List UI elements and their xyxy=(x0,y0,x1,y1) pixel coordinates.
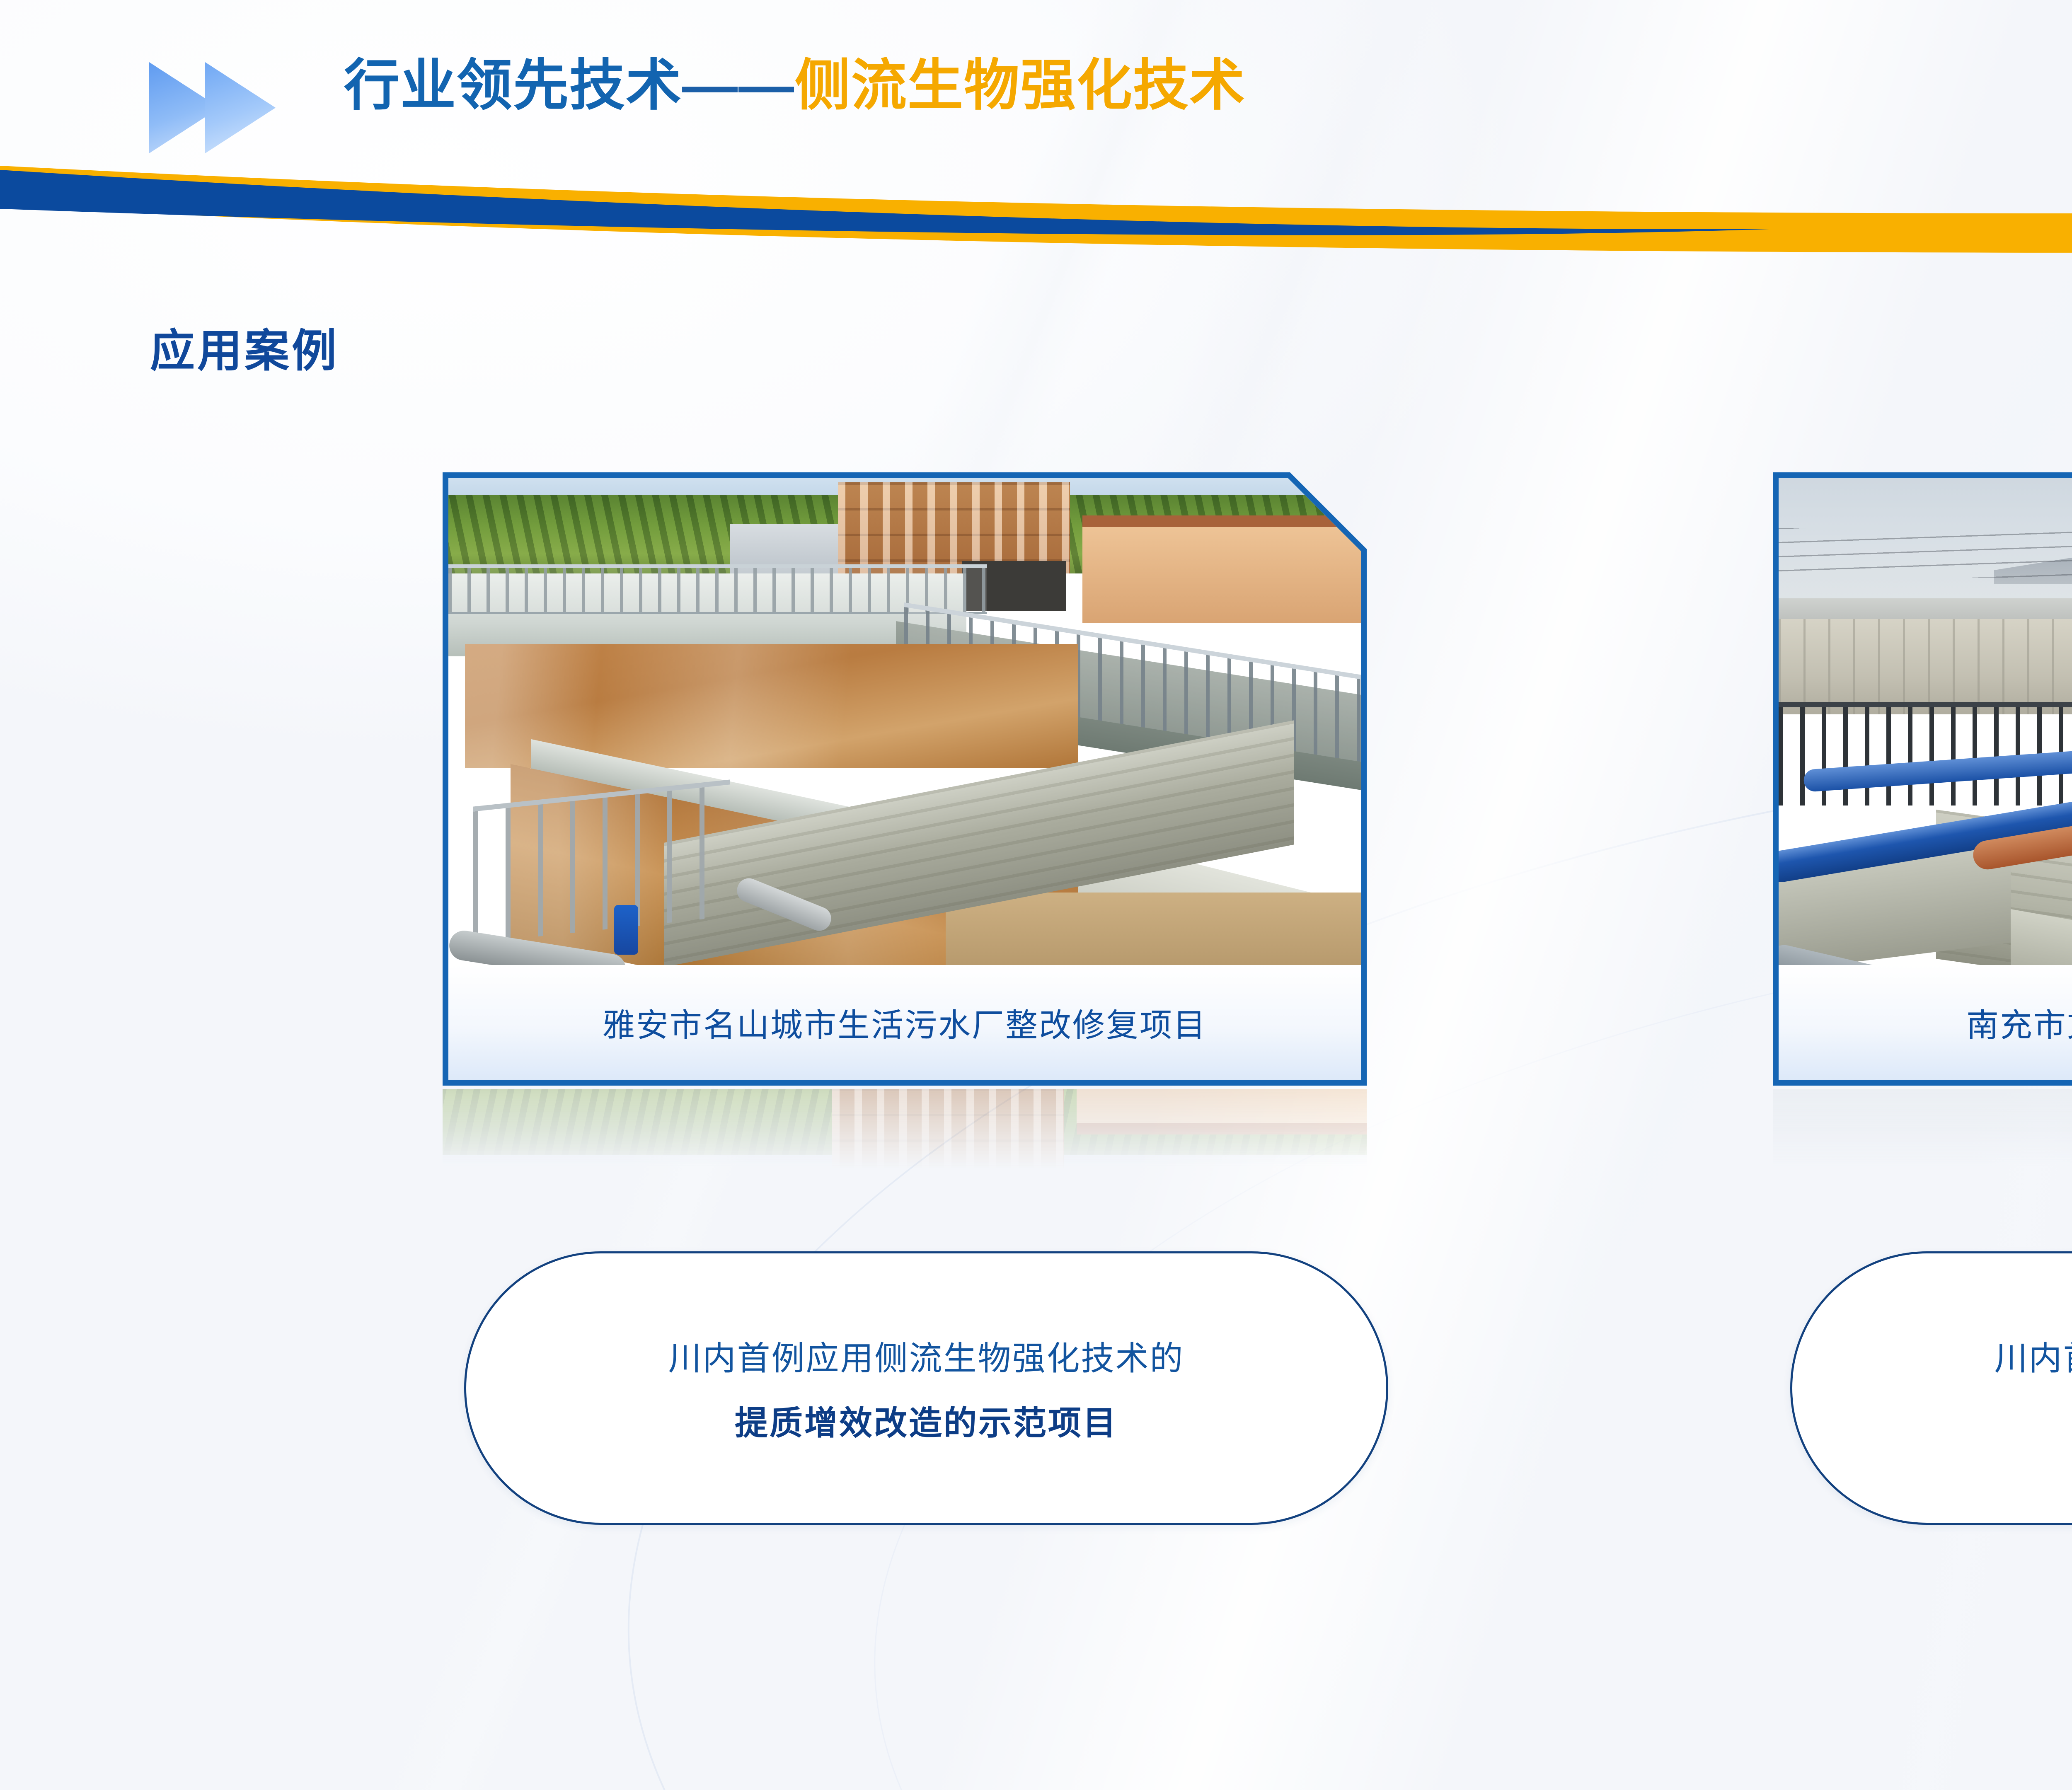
case-note-callout[interactable]: 川内首例应用侧流生物强化技术的 新建示范项目 xyxy=(1790,1251,2072,1525)
construction-site-blue-pipes-photo xyxy=(1779,478,2072,965)
slide-header: 行业领先技术——侧流生物强化技术 四川发展 四川省生态环保集团 xyxy=(0,0,2072,215)
page-title-dash: —— xyxy=(682,55,795,116)
photo-caption: 雅安市名山城市生活污水厂整改修复项目 xyxy=(603,999,1207,1046)
photo-caption-bar: 南充市文峰污水处理厂二期新建项目 xyxy=(1779,965,2072,1080)
section-heading: 应用案例 xyxy=(150,315,339,380)
chevron-shape xyxy=(205,62,276,153)
photo-reflection xyxy=(443,1089,1367,1176)
photo-reflection-art xyxy=(443,1089,1367,1172)
photo-frame-inner: 南充市文峰污水处理厂二期新建项目 xyxy=(1779,478,2072,1080)
photo-caption-bar: 雅安市名山城市生活污水厂整改修复项目 xyxy=(448,965,1361,1080)
wastewater-treatment-tanks-photo xyxy=(448,478,1361,965)
slide-canvas: 行业领先技术——侧流生物强化技术 四川发展 四川省生态环保集团 应用案例 xyxy=(0,0,2072,1790)
double-chevron-right-icon xyxy=(149,62,290,153)
header-ribbon-bands xyxy=(0,157,2072,265)
photo-reflection xyxy=(1773,1089,2072,1176)
case-note-line-1: 川内首例应用侧流生物强化技术的 xyxy=(668,1332,1184,1380)
photo-reflection-art xyxy=(1773,1089,2072,1172)
case-photo xyxy=(1779,478,2072,965)
case-note-line-1: 川内首例应用侧流生物强化技术的 xyxy=(1995,1332,2072,1380)
case-note-callout[interactable]: 川内首例应用侧流生物强化技术的 提质增效改造的示范项目 xyxy=(464,1251,1388,1525)
page-title-primary: 行业领先技术 xyxy=(344,55,682,116)
case-card[interactable]: 南充市文峰污水处理厂二期新建项目 xyxy=(1773,472,2072,1086)
case-photo xyxy=(448,478,1361,965)
photo-frame-inner: 雅安市名山城市生活污水厂整改修复项目 xyxy=(448,478,1361,1080)
photo-caption: 南充市文峰污水处理厂二期新建项目 xyxy=(1966,999,2072,1046)
page-title: 行业领先技术——侧流生物强化技术 xyxy=(344,58,1246,114)
case-card[interactable]: 雅安市名山城市生活污水厂整改修复项目 xyxy=(443,472,1367,1086)
page-title-highlight: 侧流生物强化技术 xyxy=(795,55,1246,116)
case-note-line-2: 提质增效改造的示范项目 xyxy=(735,1396,1118,1444)
